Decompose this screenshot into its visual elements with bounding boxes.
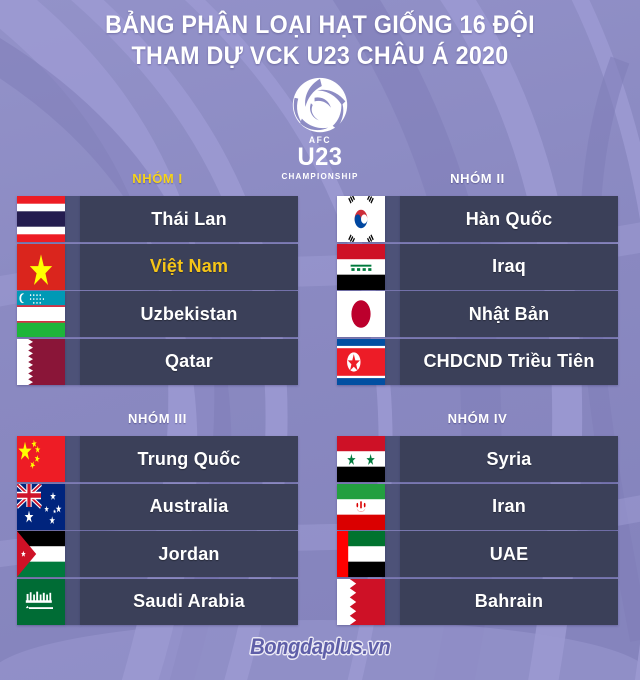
team-name: Bahrain — [475, 591, 543, 612]
row-gap — [65, 436, 80, 482]
team-name: Uzbekistan — [140, 304, 237, 325]
row-gap — [65, 339, 80, 385]
flag-uae — [337, 531, 385, 577]
flag-uzbekistan — [17, 291, 65, 337]
team-name: Qatar — [165, 351, 213, 372]
team-name-cell: CHDCND Triều Tiên — [400, 339, 618, 385]
row-gap — [385, 339, 400, 385]
flag-syria — [337, 436, 385, 482]
team-name: Nhật Bản — [469, 304, 550, 325]
flag-thailand — [17, 196, 65, 242]
logo-u23-text: U23 — [271, 145, 370, 170]
team-name: Việt Nam — [150, 256, 228, 277]
team-name-cell: Jordan — [80, 531, 298, 577]
team-name-cell: Trung Quốc — [80, 436, 298, 482]
team-name-cell: Việt Nam — [80, 244, 298, 290]
team-row[interactable]: Bahrain — [337, 579, 618, 625]
team-name: Iraq — [492, 256, 526, 277]
flag-saudi-arabia — [17, 579, 65, 625]
team-name-cell: Australia — [80, 484, 298, 530]
watermark: Bongdaplus.vn — [0, 634, 640, 660]
row-gap — [385, 579, 400, 625]
group-nhom-3: NHÓM III Trung Quốc — [17, 408, 298, 626]
row-gap — [65, 484, 80, 530]
team-name: Jordan — [158, 544, 219, 565]
flag-australia — [17, 484, 65, 530]
row-gap — [65, 531, 80, 577]
team-row[interactable]: Hàn Quốc — [337, 196, 618, 242]
row-gap — [385, 436, 400, 482]
row-gap — [65, 196, 80, 242]
team-name-cell: Bahrain — [400, 579, 618, 625]
team-row[interactable]: Iran — [337, 484, 618, 530]
team-row[interactable]: Jordan — [17, 531, 298, 577]
team-row[interactable]: Việt Nam — [17, 244, 298, 290]
group-header-1: NHÓM I — [17, 168, 298, 196]
team-name: Thái Lan — [151, 209, 227, 230]
group-header-3: NHÓM III — [17, 408, 298, 436]
team-name: Hàn Quốc — [466, 209, 553, 230]
row-gap — [65, 579, 80, 625]
team-name: Saudi Arabia — [133, 591, 245, 612]
team-name: Syria — [486, 449, 531, 470]
flag-south-korea — [337, 196, 385, 242]
team-row[interactable]: Syria — [337, 436, 618, 482]
team-name-cell: Nhật Bản — [400, 291, 618, 337]
flag-iran — [337, 484, 385, 530]
team-row[interactable]: Saudi Arabia — [17, 579, 298, 625]
group-header-4: NHÓM IV — [337, 408, 618, 436]
flag-bahrain — [337, 579, 385, 625]
team-name: CHDCND Triều Tiên — [423, 351, 594, 372]
team-name: UAE — [490, 544, 529, 565]
row-gap — [385, 196, 400, 242]
watermark-text: Bongdaplus.vn — [250, 634, 390, 660]
afc-u23-logo: AFC U23 CHAMPIONSHIP — [268, 76, 372, 181]
team-row[interactable]: Qatar — [17, 339, 298, 385]
team-name-cell: Iran — [400, 484, 618, 530]
team-name-cell: UAE — [400, 531, 618, 577]
team-name-cell: Qatar — [80, 339, 298, 385]
page-title: BẢNG PHÂN LOẠI HẠT GIỐNG 16 ĐỘI THAM DỰ … — [0, 10, 640, 72]
group-nhom-2: NHÓM II — [337, 168, 618, 386]
row-gap — [65, 244, 80, 290]
team-name-cell: Uzbekistan — [80, 291, 298, 337]
team-name: Australia — [150, 496, 229, 517]
title-line-1: BẢNG PHÂN LOẠI HẠT GIỐNG 16 ĐỘI — [22, 10, 617, 41]
row-gap — [65, 291, 80, 337]
flag-japan — [337, 291, 385, 337]
afc-ball-icon — [291, 76, 349, 134]
group-header-2: NHÓM II — [337, 168, 618, 196]
title-line-2: THAM DỰ VCK U23 CHÂU Á 2020 — [22, 41, 617, 72]
team-name: Trung Quốc — [138, 449, 241, 470]
row-gap — [385, 531, 400, 577]
row-gap — [385, 244, 400, 290]
team-name-cell: Saudi Arabia — [80, 579, 298, 625]
flag-jordan — [17, 531, 65, 577]
flag-north-korea — [337, 339, 385, 385]
team-name-cell: Syria — [400, 436, 618, 482]
flag-iraq — [337, 244, 385, 290]
team-row[interactable]: Uzbekistan — [17, 291, 298, 337]
flag-qatar — [17, 339, 65, 385]
team-row[interactable]: Iraq — [337, 244, 618, 290]
row-gap — [385, 484, 400, 530]
team-name-cell: Hàn Quốc — [400, 196, 618, 242]
team-name-cell: Thái Lan — [80, 196, 298, 242]
team-row[interactable]: UAE — [337, 531, 618, 577]
team-name: Iran — [492, 496, 526, 517]
flag-china — [17, 436, 65, 482]
flag-vietnam — [17, 244, 65, 290]
group-nhom-4: NHÓM IV Syria — [337, 408, 618, 626]
team-row[interactable]: Thái Lan — [17, 196, 298, 242]
team-row[interactable]: Trung Quốc — [17, 436, 298, 482]
team-name-cell: Iraq — [400, 244, 618, 290]
team-row[interactable]: Australia — [17, 484, 298, 530]
row-gap — [385, 291, 400, 337]
team-row[interactable]: Nhật Bản — [337, 291, 618, 337]
group-nhom-1: NHÓM I Thái Lan — [17, 168, 298, 386]
team-row[interactable]: CHDCND Triều Tiên — [337, 339, 618, 385]
